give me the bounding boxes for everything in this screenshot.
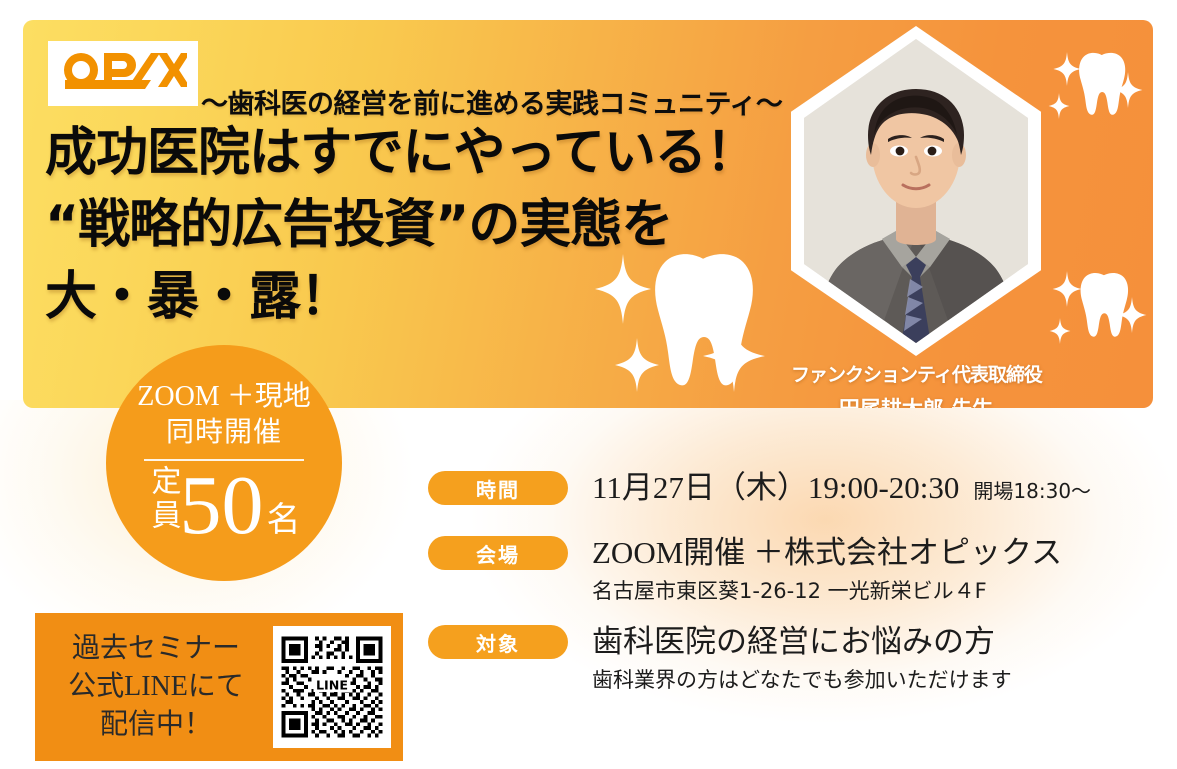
line-promo-box[interactable]: 過去セミナー 公式LINEにて 配信中！	[35, 613, 403, 761]
detail-body-time: 11月27日（木）19:00-20:30開場18:30〜	[592, 468, 1091, 511]
capacity-line-2: 同時開催	[166, 414, 282, 452]
time-open: 開場18:30〜	[973, 479, 1091, 503]
sparkle-icon-4	[1053, 52, 1081, 86]
line-promo-line-1: 過去セミナー	[39, 630, 273, 668]
detail-row-time: 時間 11月27日（木）19:00-20:30開場18:30〜	[428, 468, 1158, 511]
seminar-flyer: 〜歯科医の経営を前に進める実践コミュニティ〜 成功医院はすでにやっている！ “戦…	[0, 0, 1177, 769]
badge-time: 時間	[428, 471, 568, 505]
speaker-role: ファンクションティ代表取締役	[791, 360, 1041, 387]
badge-target: 対象	[428, 625, 568, 659]
qr-center-label: LINE	[316, 678, 348, 693]
capacity-line-1: ZOOM ＋現地	[137, 380, 310, 414]
speaker-name: 田尾耕太郎 先生	[791, 393, 1041, 408]
opx-logo	[48, 41, 198, 106]
detail-main-time: 11月27日（木）19:00-20:30開場18:30〜	[592, 468, 1091, 511]
detail-row-venue: 会場 ZOOM開催 ＋株式会社オピックス 名古屋市東区葵1-26-12 一光新栄…	[428, 533, 1158, 606]
headline-line-3: 大・暴・露！	[45, 261, 765, 333]
sparkle-icon-6	[1048, 93, 1070, 119]
detail-body-target: 歯科医院の経営にお悩みの方 歯科業界の方はどなたでも参加いただけます	[592, 622, 1012, 695]
sparkle-icon-3	[615, 338, 659, 392]
headline-line-1: 成功医院はすでにやっている！	[45, 117, 765, 189]
detail-body-venue: ZOOM開催 ＋株式会社オピックス 名古屋市東区葵1-26-12 一光新栄ビル４…	[592, 533, 1062, 606]
capacity-unit: 名	[267, 499, 301, 543]
banner-headline: 成功医院はすでにやっている！ “戦略的広告投資”の実態を 大・暴・露！	[45, 117, 765, 333]
line-promo-line-2: 公式LINEにて	[39, 668, 273, 706]
time-value: 11月27日（木）19:00-20:30	[592, 470, 959, 505]
speaker-photo-hexagon	[791, 26, 1041, 356]
headline-line-2: “戦略的広告投資”の実態を	[45, 189, 765, 261]
line-qr-code[interactable]: LINE	[273, 626, 391, 748]
detail-sub-venue: 名古屋市東区葵1-26-12 一光新栄ビル４F	[592, 576, 1062, 606]
detail-main-target: 歯科医院の経営にお悩みの方	[592, 622, 1012, 662]
detail-row-target: 対象 歯科医院の経営にお悩みの方 歯科業界の方はどなたでも参加いただけます	[428, 622, 1158, 695]
sparkle-icon-5	[1113, 72, 1143, 108]
sparkle-icon-9	[1049, 318, 1071, 344]
event-details: 時間 11月27日（木）19:00-20:30開場18:30〜 会場 ZOOM開…	[428, 468, 1158, 695]
capacity-label: 定員	[148, 465, 178, 545]
line-promo-text: 過去セミナー 公式LINEにて 配信中！	[35, 630, 273, 744]
banner-tagline: 〜歯科医の経営を前に進める実践コミュニティ〜	[201, 82, 782, 121]
capacity-number: 50	[180, 465, 264, 547]
sparkle-icon-7	[1052, 271, 1082, 307]
sparkle-icon-8	[1117, 297, 1147, 333]
detail-main-venue: ZOOM開催 ＋株式会社オピックス	[592, 533, 1062, 573]
capacity-badge: ZOOM ＋現地 同時開催 定員 50 名	[106, 345, 342, 581]
capacity-count: 定員 50 名	[148, 465, 301, 547]
detail-sub-target: 歯科業界の方はどなたでも参加いただけます	[592, 665, 1012, 695]
badge-venue: 会場	[428, 536, 568, 570]
line-promo-line-3: 配信中！	[39, 706, 273, 744]
